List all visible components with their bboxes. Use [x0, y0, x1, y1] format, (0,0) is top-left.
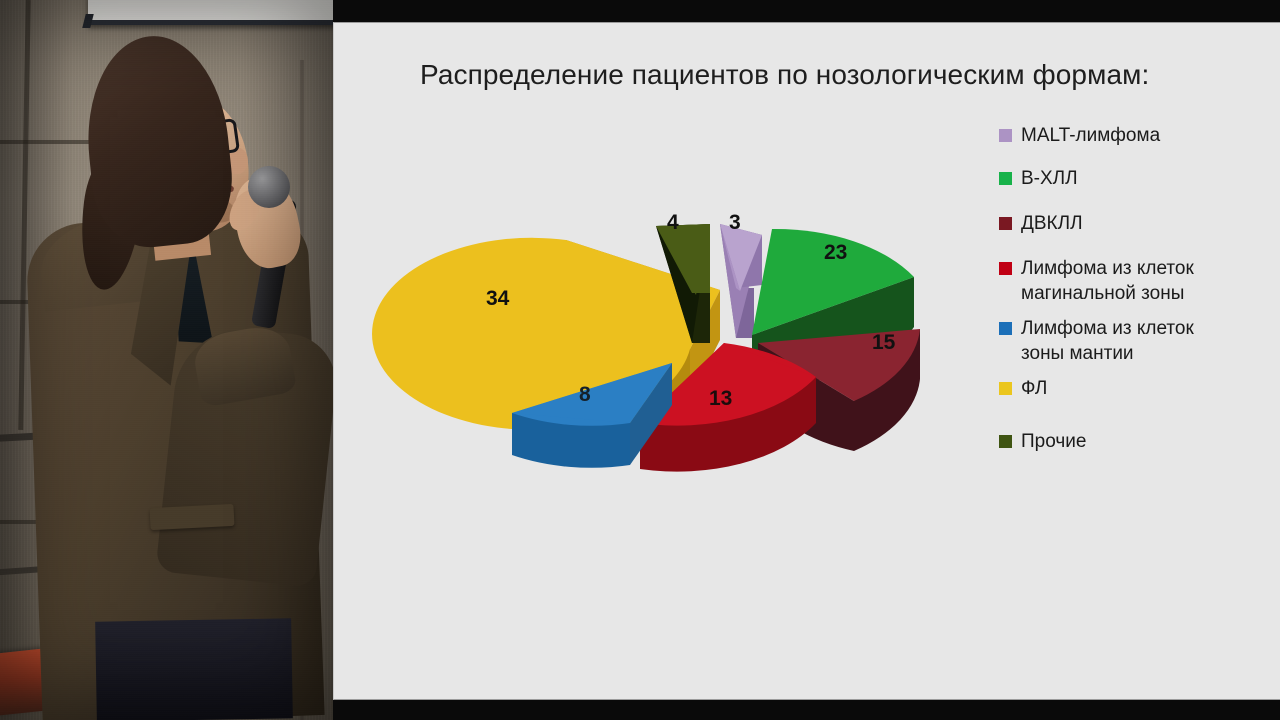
- legend-swatch-icon: [999, 435, 1012, 448]
- jacket-pocket: [149, 504, 234, 530]
- legend-item-malt[interactable]: MALT-лимфома: [999, 123, 1269, 148]
- legend-label: Лимфома из клетокзоны мантии: [1021, 316, 1194, 366]
- legend-label: Прочие: [1021, 429, 1086, 454]
- page-title: Распределение пациентов по нозологически…: [420, 59, 1230, 91]
- legend-swatch-icon: [999, 129, 1012, 142]
- legend-item-marginal[interactable]: Лимфома из клетокмагинальной зоны: [999, 256, 1269, 306]
- video-slide-composite: Распределение пациентов по нозологически…: [0, 0, 1280, 720]
- legend-label: ФЛ: [1021, 376, 1047, 401]
- legend-item-mantle[interactable]: Лимфома из клетокзоны мантии: [999, 316, 1269, 366]
- speaker-figure: [0, 0, 333, 720]
- slide-surface: Распределение пациентов по нозологически…: [333, 22, 1280, 700]
- legend-item-bcll[interactable]: B-ХЛЛ: [999, 166, 1269, 191]
- slide-pane: Распределение пациентов по нозологически…: [333, 0, 1280, 720]
- pie-value-mantle: 8: [579, 383, 591, 407]
- legend-swatch-icon: [999, 322, 1012, 335]
- legend-item-fl[interactable]: ФЛ: [999, 376, 1269, 401]
- speaker-video-pane: [0, 0, 333, 720]
- legend-label: ДВКЛЛ: [1021, 211, 1083, 236]
- legend-swatch-icon: [999, 382, 1012, 395]
- pie-slice-mantle[interactable]: 8: [424, 183, 984, 513]
- legend-label: B-ХЛЛ: [1021, 166, 1078, 191]
- microphone-icon: [248, 166, 290, 208]
- legend-item-other[interactable]: Прочие: [999, 429, 1269, 454]
- legend-label: Лимфома из клетокмагинальной зоны: [1021, 256, 1194, 306]
- pie-chart: 34 4: [424, 183, 984, 513]
- trousers: [95, 618, 293, 720]
- legend-swatch-icon: [999, 262, 1012, 275]
- legend-label: MALT-лимфома: [1021, 123, 1160, 148]
- legend-swatch-icon: [999, 172, 1012, 185]
- legend-item-dbcl[interactable]: ДВКЛЛ: [999, 211, 1269, 236]
- chart-legend: MALT-лимфома B-ХЛЛ ДВКЛЛ Лимфома из клет…: [999, 123, 1269, 472]
- legend-swatch-icon: [999, 217, 1012, 230]
